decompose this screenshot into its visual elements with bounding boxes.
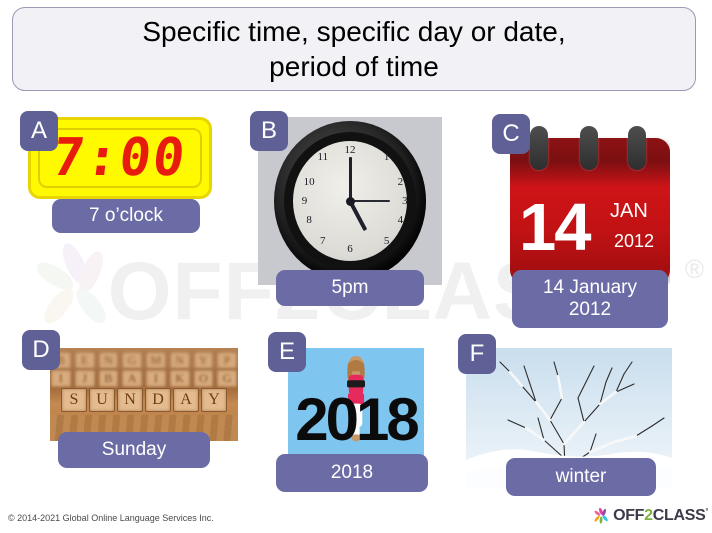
panel-caption-f: winter (506, 458, 656, 496)
calendar-image: 14 JAN 2012 (510, 124, 670, 284)
panel-tag-f: F (458, 334, 496, 374)
off2class-logo: OFF2CLASS° (592, 503, 708, 529)
block-letter: D (145, 388, 171, 412)
clock-numeral-11: 11 (316, 152, 330, 163)
clock-brand-text (349, 218, 351, 224)
block: K (169, 369, 191, 388)
clock-second-hand (350, 200, 390, 202)
calendar-year: 2012 (614, 231, 654, 252)
block: J (74, 369, 96, 388)
clock-center-pin (346, 197, 355, 206)
year-text: 2018 (288, 390, 424, 450)
calendar-day: 14 (519, 194, 590, 261)
block-letter: Y (201, 388, 227, 412)
off2class-flower-watermark-icon (20, 240, 130, 340)
clock-numeral-9: 9 (298, 196, 312, 207)
slide-title: Specific time, specific day or date, per… (142, 14, 565, 84)
block: O (193, 369, 215, 388)
block-letter: N (117, 388, 143, 412)
year-illustration-image: 2018 (288, 348, 424, 458)
analog-clock-face: 12 1 2 3 4 5 6 7 8 9 10 11 (293, 141, 407, 261)
panel-caption-e: 2018 (276, 454, 428, 492)
block: B (98, 369, 120, 388)
digital-clock-screen: 7:00 (38, 128, 202, 187)
copyright-footer: © 2014-2021 Global Online Language Servi… (8, 513, 214, 523)
blurred-block-row-top: BENGMNYP (50, 351, 238, 370)
panel-tag-a: A (20, 111, 58, 151)
block: I (50, 369, 72, 388)
blurred-block-row-middle: IJBAIKOG (50, 369, 238, 388)
clock-numeral-3: 3 (398, 196, 412, 207)
block: A (121, 369, 143, 388)
panel-caption-d: Sunday (58, 432, 210, 468)
calendar-ring-3 (628, 126, 646, 170)
slide-canvas: OFF2CLASS ® Specific time, specific day … (0, 0, 712, 533)
block: N (98, 351, 120, 370)
logo-wordmark: OFF2CLASS° (613, 507, 708, 525)
panel-caption-b: 5pm (276, 270, 424, 306)
block-letter: U (89, 388, 115, 412)
word-block-row: SUNDAY (50, 388, 238, 412)
block-letter: A (173, 388, 199, 412)
logo-part-2: 2 (644, 507, 653, 524)
watermark-registered-mark: ® (685, 254, 704, 285)
block-letter: S (61, 388, 87, 412)
logo-part-3: CLASS (653, 507, 706, 524)
logo-part-1: OFF (613, 507, 644, 524)
slide-title-box: Specific time, specific day or date, per… (12, 7, 696, 91)
block: I (145, 369, 167, 388)
panel-caption-c: 14 January 2012 (512, 270, 668, 328)
clock-numeral-8: 8 (302, 215, 316, 226)
block: N (169, 351, 191, 370)
clock-numeral-10: 10 (302, 177, 316, 188)
calendar-month: JAN (610, 200, 648, 223)
block: G (121, 351, 143, 370)
slide-title-line-2: period of time (142, 49, 565, 84)
panel-caption-a: 7 o’clock (52, 199, 200, 233)
logo-registered-mark: ° (706, 509, 709, 516)
calendar-ring-1 (530, 126, 548, 170)
clock-numeral-4: 4 (393, 215, 407, 226)
calendar-body: 14 JAN 2012 (510, 138, 670, 284)
clock-numeral-5: 5 (380, 236, 394, 247)
block: G (216, 369, 238, 388)
panel-tag-c: C (492, 114, 530, 154)
analog-clock-bezel: 12 1 2 3 4 5 6 7 8 9 10 11 (274, 121, 426, 281)
clock-numeral-12: 12 (343, 145, 357, 156)
block: Y (193, 351, 215, 370)
panel-tag-b: B (250, 111, 288, 151)
block: E (74, 351, 96, 370)
block: M (145, 351, 167, 370)
panel-tag-e: E (268, 332, 306, 372)
clock-minute-hand (349, 157, 352, 201)
letter-blocks-image: BENGMNYP IJBAIKOG SUNDAY (50, 348, 238, 441)
clock-numeral-7: 7 (316, 236, 330, 247)
off2class-flower-icon (592, 506, 610, 526)
slide-title-line-1: Specific time, specific day or date, (142, 14, 565, 49)
digital-clock-digits: 7:00 (50, 132, 190, 184)
panel-tag-d: D (22, 330, 60, 370)
block: P (216, 351, 238, 370)
calendar-ring-2 (580, 126, 598, 170)
clock-numeral-1: 1 (380, 152, 394, 163)
clock-numeral-6: 6 (343, 244, 357, 255)
clock-numeral-2: 2 (393, 177, 407, 188)
